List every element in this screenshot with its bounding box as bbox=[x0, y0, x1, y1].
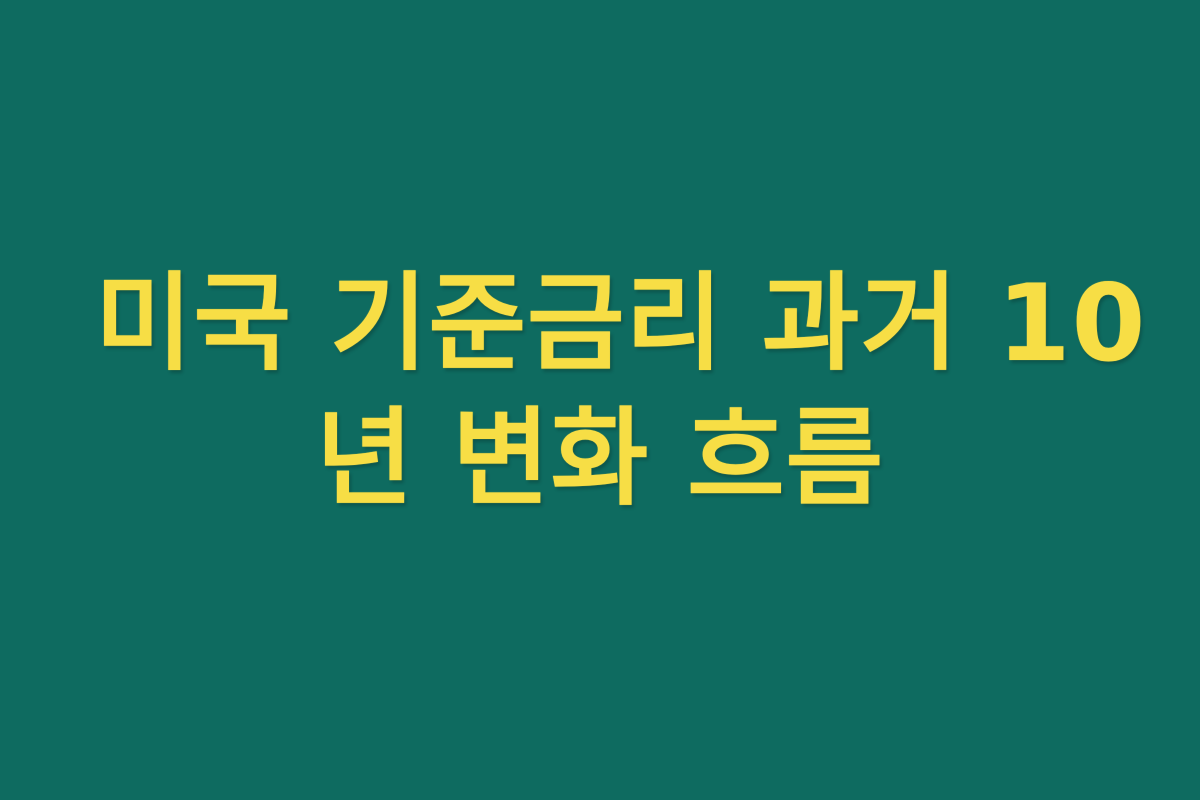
page-title: 미국 기준금리 과거 10 년 변화 흐름 bbox=[95, 256, 1105, 526]
title-line-1: 미국 기준금리 과거 10 bbox=[95, 256, 1105, 391]
title-line-2: 년 변화 흐름 bbox=[95, 391, 1105, 526]
title-card-canvas: 미국 기준금리 과거 10 년 변화 흐름 bbox=[0, 0, 1200, 800]
